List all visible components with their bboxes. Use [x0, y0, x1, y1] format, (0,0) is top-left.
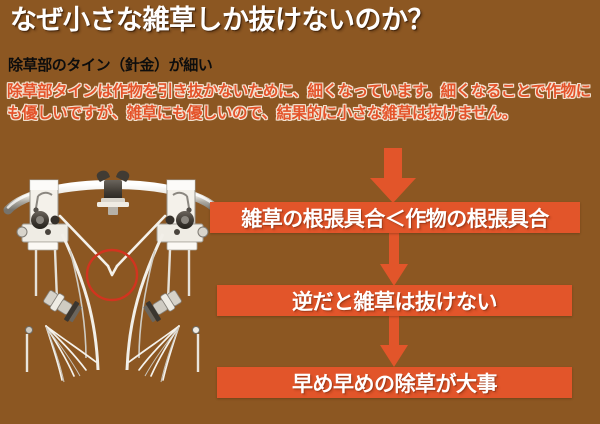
- arrow-down-1: [368, 148, 418, 204]
- body-paragraph: 除草部タインは作物を引き抜かないために、細くなっています。細くなることで作物にも…: [7, 80, 595, 125]
- implement-illustration: [0, 158, 225, 388]
- page-title: なぜ小さな雑草しか抜けないのか？: [10, 6, 590, 36]
- arrow-down-2: [379, 232, 409, 287]
- arrow-down-3: [379, 315, 409, 368]
- slide-canvas: なぜ小さな雑草しか抜けないのか？ 除草部のタイン（針金）が細い 除草部タインは作…: [0, 0, 600, 424]
- callout-box-2: 逆だと雑草は抜けない: [217, 285, 572, 316]
- callout-box-1: 雑草の根張具合＜作物の根張具合: [210, 202, 580, 233]
- callout-box-3: 早め早めの除草が大事: [217, 367, 572, 398]
- center-clamp: [97, 171, 130, 215]
- weeder-implement-photo: [0, 158, 225, 388]
- section-subheading: 除草部のタイン（針金）が細い: [8, 54, 212, 75]
